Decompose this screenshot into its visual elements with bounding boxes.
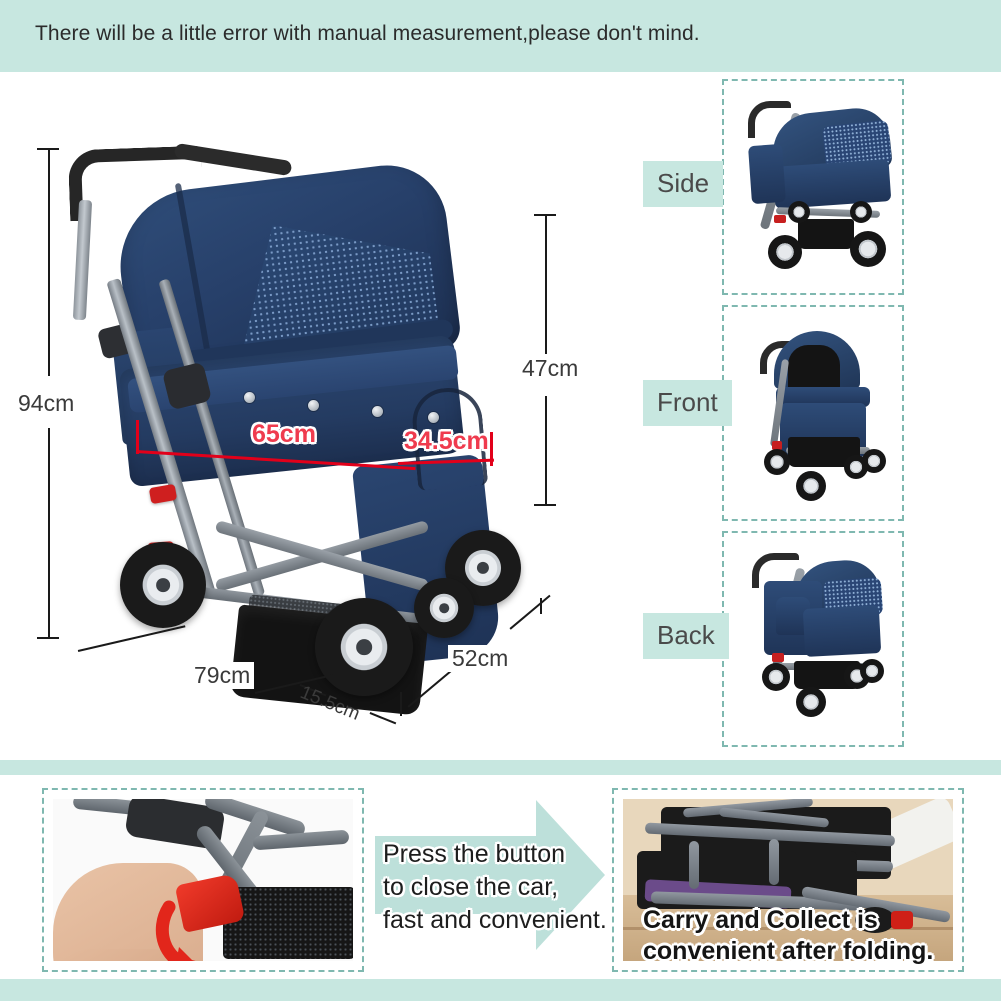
view-panel-side	[722, 79, 904, 295]
view-label-back: Back	[643, 613, 729, 659]
red-dimension-cap-right	[490, 432, 493, 466]
dimension-line-height-upper	[48, 148, 50, 376]
red-dimension-cap-left	[136, 420, 139, 454]
dimension-line-canopy-upper	[545, 214, 547, 354]
press-button-instruction: Press the button to close the car, fast …	[383, 838, 613, 937]
rivet	[428, 412, 439, 423]
dimension-line-canopy-lower	[545, 396, 547, 504]
wheel-front-left	[315, 598, 413, 696]
caption-line-1: Carry and Collect is	[643, 905, 963, 936]
folded-caption: Carry and Collect is convenient after fo…	[643, 905, 963, 966]
instruction-line-3: fast and convenient.	[383, 904, 613, 937]
rivet	[308, 400, 319, 411]
wheel-rear-left	[120, 542, 206, 628]
rivet	[244, 392, 255, 403]
dimension-label-overall-length: 79cm	[190, 662, 254, 689]
view-panel-back	[722, 531, 904, 747]
view-label-front: Front	[643, 380, 732, 426]
rivet	[372, 406, 383, 417]
dimension-cap-canopy-top	[534, 214, 556, 216]
curved-arrow-icon	[149, 895, 245, 961]
back-view-thumbnail	[732, 541, 894, 737]
dimension-label-overall-width: 52cm	[448, 645, 512, 672]
measurement-note: There will be a little error with manual…	[35, 22, 700, 46]
dimension-cap-top	[37, 148, 59, 150]
caption-line-2: convenient after folding.	[643, 936, 963, 967]
dimension-label-canopy-height: 47cm	[518, 355, 582, 382]
dimension-cap-width-bottom	[400, 692, 402, 716]
press-button-photo	[42, 788, 364, 972]
view-panel-front	[722, 305, 904, 521]
dimension-label-height: 94cm	[14, 390, 78, 417]
instruction-line-1: Press the button	[383, 838, 613, 871]
dimension-label-inner-width: 34.5cm	[404, 427, 489, 456]
infographic-page: There will be a little error with manual…	[0, 0, 1001, 1001]
dimension-label-inner-length: 65cm	[252, 420, 316, 449]
dimension-cap-bottom	[37, 637, 59, 639]
dimension-line-height-lower	[48, 428, 50, 638]
side-view-thumbnail	[732, 89, 894, 285]
dimension-cap-width-top	[540, 598, 542, 614]
instruction-line-2: to close the car,	[383, 871, 613, 904]
view-label-side: Side	[643, 161, 723, 207]
dimension-cap-canopy-bottom	[534, 504, 556, 506]
press-button-scene	[53, 799, 353, 961]
wheel-rear-right	[414, 578, 474, 638]
front-view-thumbnail	[732, 315, 894, 511]
